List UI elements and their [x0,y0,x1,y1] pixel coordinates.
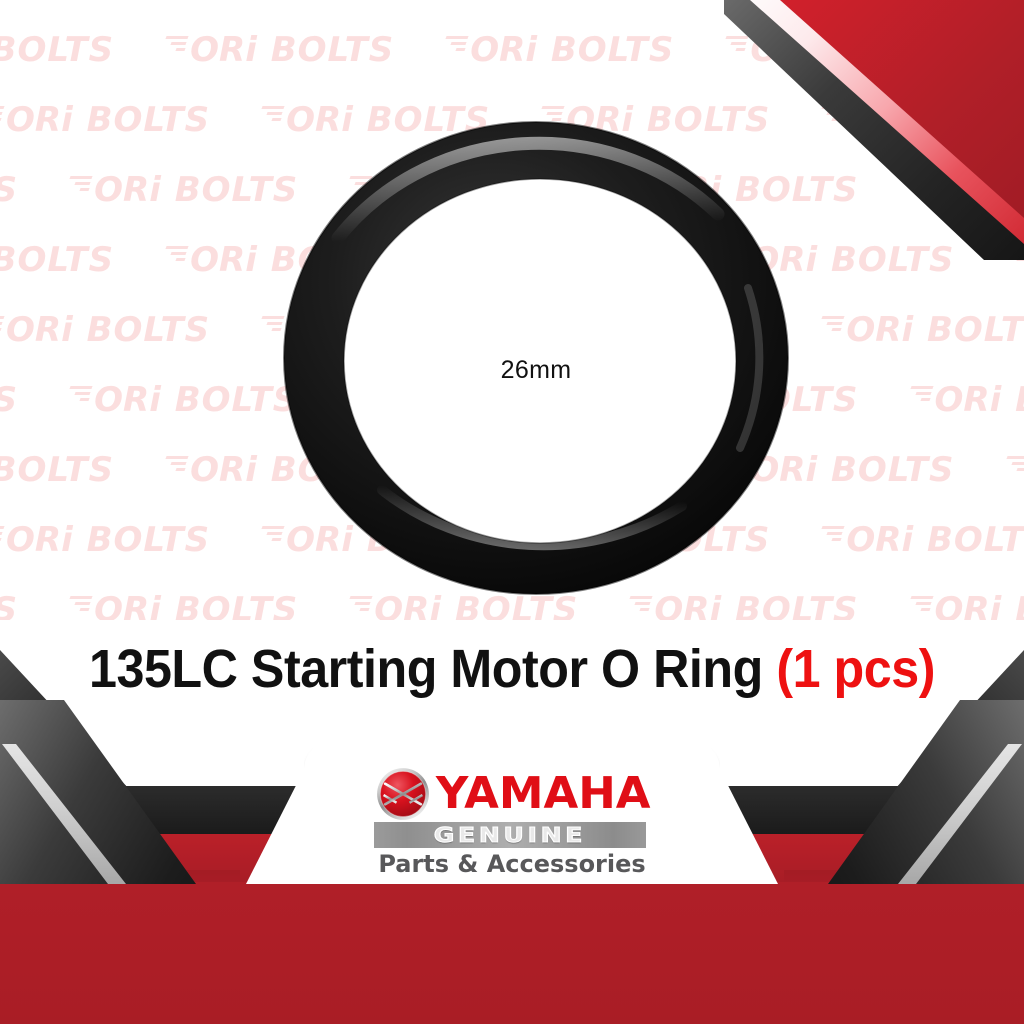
watermark-suffix: i BOLTS [990,380,1024,420]
watermark-suffix: i BOLTS [0,590,18,620]
watermark-suffix: i BOLTS [525,30,674,70]
watermark-speedlines-icon [0,106,4,126]
watermark-speedlines-icon [1007,456,1024,476]
product-title: 135LC Starting Motor O Ring (1 pcs) [36,638,988,700]
watermark-suffix: i BOLTS [0,380,18,420]
watermark-text: ORi BOLTS [70,380,298,420]
brand-logo-row: YAMAHA [304,766,720,822]
watermark-prefix: OR [6,100,61,140]
watermark-text: ORi BOLTS [70,170,298,210]
dimension-label: 26mm [278,356,794,385]
watermark-text: ORi BOLTS [0,240,114,280]
watermark-speedlines-icon [0,316,4,336]
watermark-prefix: OR [846,520,901,560]
product-photo-area: ORi BOLTSORi BOLTSORi BOLTSORi BOLTSORi … [0,0,1024,620]
watermark-text: ORi BOLTS [0,30,114,70]
watermark-speedlines-icon [630,596,652,616]
watermark-text: ORi BOLTS [911,590,1024,620]
watermark-text: ORi BOLTS [446,30,674,70]
watermark-speedlines-icon [0,526,4,546]
watermark-prefix: OR [935,590,990,620]
watermark-prefix: OR [470,30,525,70]
watermark-prefix: OR [190,240,245,280]
watermark-speedlines-icon [726,36,748,56]
watermark-prefix: OR [94,380,149,420]
watermark-suffix: i BOLTS [805,450,954,490]
watermark-prefix: OR [94,170,149,210]
product-image-canvas: ORi BOLTSORi BOLTSORi BOLTSORi BOLTSORi … [0,0,1024,1024]
watermark-speedlines-icon [446,36,468,56]
watermark-prefix: OR [190,450,245,490]
watermark-speedlines-icon [70,176,92,196]
watermark-speedlines-icon [166,456,188,476]
watermark-text: ORi BOLTS [822,310,1024,350]
watermark-suffix: i BOLTS [0,170,18,210]
watermark-suffix: i BOLTS [990,590,1024,620]
yamaha-wordmark: YAMAHA [436,772,651,816]
watermark-suffix: i BOLTS [0,30,114,70]
watermark-text: ORi BOLTS [822,520,1024,560]
watermark-speedlines-icon [70,596,92,616]
watermark-speedlines-icon [822,526,844,546]
watermark-suffix: i BOLTS [149,170,298,210]
watermark-text: ORi BOLTS [0,100,210,140]
watermark-suffix: i BOLTS [901,520,1024,560]
watermark-suffix: i BOLTS [0,240,114,280]
watermark-suffix: i BOLTS [0,450,114,490]
watermark-prefix: OR [6,310,61,350]
watermark-suffix: i BOLTS [61,100,210,140]
watermark-prefix: OR [94,590,149,620]
oring-product-image: 26mm [278,118,794,598]
watermark-speedlines-icon [822,316,844,336]
product-title-main: 135LC Starting Motor O Ring [89,639,763,699]
watermark-text: ORi BOLTS [911,380,1024,420]
watermark-speedlines-icon [911,386,933,406]
watermark-text: ORi BOLTS [0,590,18,620]
footer-red-band-lower [0,882,1024,1024]
genuine-label: GENUINE [434,823,586,847]
watermark-speedlines-icon [70,386,92,406]
watermark-text: ORi BOLTS [0,520,210,560]
watermark-speedlines-icon [350,596,372,616]
watermark-prefix: OR [935,380,990,420]
watermark-suffix: i BOLTS [149,590,298,620]
watermark-suffix: i BOLTS [61,520,210,560]
watermark-suffix: i BOLTS [245,30,394,70]
watermark-speedlines-icon [911,596,933,616]
watermark-speedlines-icon [166,246,188,266]
yamaha-tuning-fork-emblem [376,767,430,821]
watermark-suffix: i BOLTS [901,310,1024,350]
watermark-text: ORi BOLTS [0,310,210,350]
watermark-prefix: OR [190,30,245,70]
watermark-speedlines-icon [166,36,188,56]
product-quantity: (1 pcs) [776,639,935,699]
brand-tagline: Parts & Accessories [304,850,720,878]
watermark-text: ORi BOLTS [0,450,114,490]
watermark-suffix: i BOLTS [61,310,210,350]
watermark-suffix: i BOLTS [805,240,954,280]
watermark-suffix: i BOLTS [149,380,298,420]
watermark-text: ORi BOLTS [0,380,18,420]
watermark-text: ORi BOLTS [1007,450,1024,490]
genuine-bar: GENUINE [374,822,646,848]
watermark-text: ORi BOLTS [70,590,298,620]
watermark-prefix: OR [6,520,61,560]
watermark-text: ORi BOLTS [0,170,18,210]
watermark-prefix: OR [846,310,901,350]
watermark-text: ORi BOLTS [166,30,394,70]
